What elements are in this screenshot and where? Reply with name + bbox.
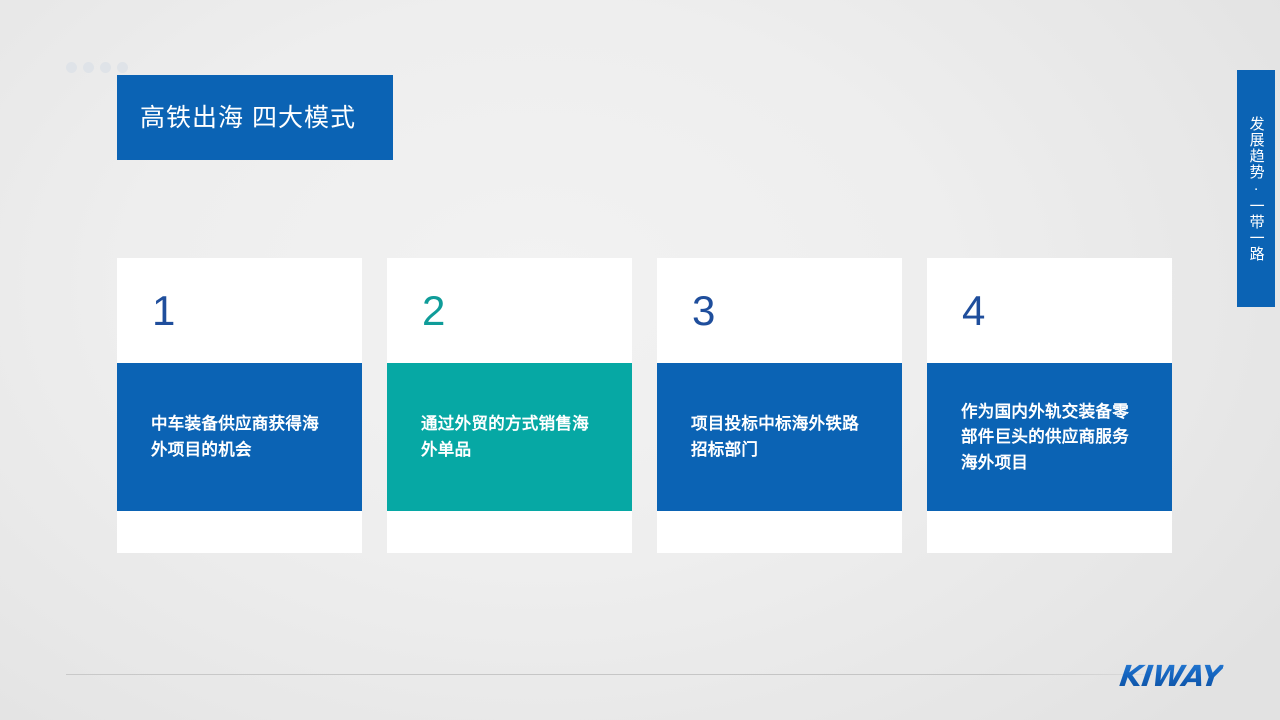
mode-card-number: 1 <box>117 258 362 363</box>
mode-card-text: 作为国内外轨交装备零部件巨头的供应商服务海外项目 <box>961 399 1144 476</box>
mode-card-footer <box>387 511 632 553</box>
decor-dot-3 <box>100 62 111 73</box>
mode-card-4[interactable]: 4 作为国内外轨交装备零部件巨头的供应商服务海外项目 <box>927 258 1172 553</box>
mode-card-band: 中车装备供应商获得海外项目的机会 <box>117 363 362 511</box>
mode-card-band: 通过外贸的方式销售海外单品 <box>387 363 632 511</box>
mode-card-number: 4 <box>927 258 1172 363</box>
section-tab-vertical: 发展趋势·一带一路 <box>1237 70 1275 307</box>
mode-card-3[interactable]: 3 项目投标中标海外铁路招标部门 <box>657 258 902 553</box>
section-tab-label: 发展趋势·一带一路 <box>1245 116 1266 262</box>
decor-dot-2 <box>83 62 94 73</box>
mode-card-list: 1 中车装备供应商获得海外项目的机会 2 通过外贸的方式销售海外单品 3 项目投… <box>117 258 1172 553</box>
mode-card-number: 2 <box>387 258 632 363</box>
decorative-dots <box>66 62 128 73</box>
mode-card-1[interactable]: 1 中车装备供应商获得海外项目的机会 <box>117 258 362 553</box>
mode-card-band: 项目投标中标海外铁路招标部门 <box>657 363 902 511</box>
brand-logo: KIWAY <box>1118 659 1225 693</box>
footer-divider <box>66 674 1153 675</box>
slide-title-box: 高铁出海 四大模式 <box>117 75 393 160</box>
decor-dot-1 <box>66 62 77 73</box>
mode-card-text: 中车装备供应商获得海外项目的机会 <box>151 411 334 462</box>
mode-card-text: 通过外贸的方式销售海外单品 <box>421 411 604 462</box>
slide-canvas: 高铁出海 四大模式 发展趋势·一带一路 1 中车装备供应商获得海外项目的机会 2… <box>0 0 1280 720</box>
mode-card-footer <box>927 511 1172 553</box>
mode-card-band: 作为国内外轨交装备零部件巨头的供应商服务海外项目 <box>927 363 1172 511</box>
mode-card-number: 3 <box>657 258 902 363</box>
mode-card-footer <box>117 511 362 553</box>
mode-card-2[interactable]: 2 通过外贸的方式销售海外单品 <box>387 258 632 553</box>
mode-card-footer <box>657 511 902 553</box>
mode-card-text: 项目投标中标海外铁路招标部门 <box>691 411 874 462</box>
page-title: 高铁出海 四大模式 <box>140 103 356 133</box>
decor-dot-4 <box>117 62 128 73</box>
